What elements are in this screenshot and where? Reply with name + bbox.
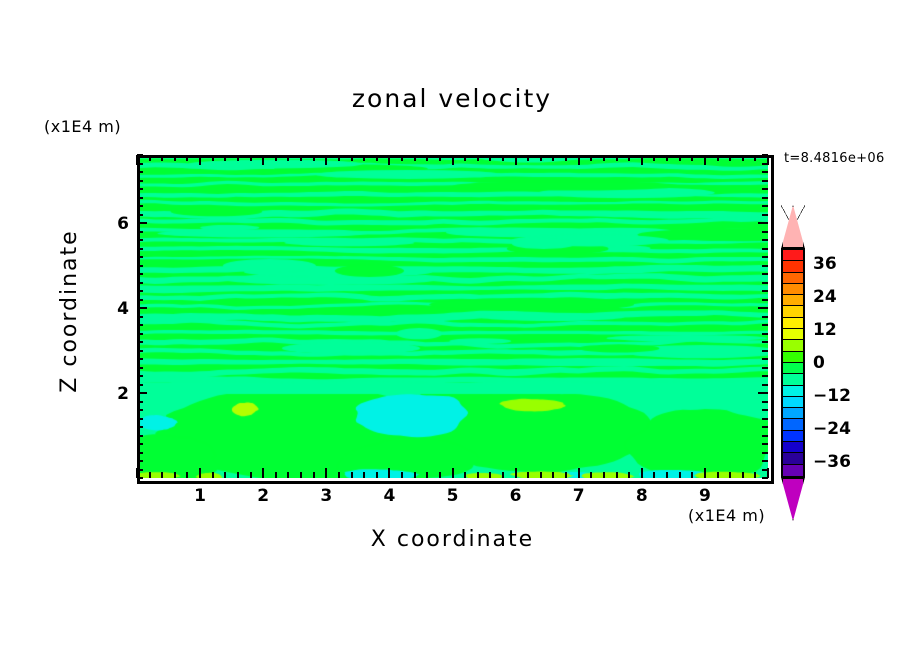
x-axis-minor-tick bbox=[464, 472, 466, 478]
x-axis-minor-tick bbox=[666, 472, 668, 478]
y-axis-minor-tick bbox=[137, 290, 143, 292]
x-axis-minor-tick bbox=[489, 472, 491, 478]
x-axis-major-tick bbox=[578, 155, 580, 165]
x-axis-minor-tick bbox=[653, 155, 655, 161]
x-axis-minor-tick bbox=[691, 155, 693, 161]
x-axis-tick-label: 5 bbox=[438, 486, 468, 506]
x-axis-major-tick bbox=[325, 155, 327, 165]
x-axis-minor-tick bbox=[653, 472, 655, 478]
y-axis-minor-tick bbox=[137, 418, 143, 420]
y-axis-major-tick bbox=[137, 307, 147, 309]
y-axis-minor-tick bbox=[137, 163, 143, 165]
x-axis-major-tick bbox=[199, 468, 201, 478]
y-axis-minor-tick bbox=[137, 180, 143, 182]
y-axis-tick-label: 2 bbox=[99, 384, 129, 404]
x-axis-minor-tick bbox=[224, 155, 226, 161]
x-axis-minor-tick bbox=[565, 472, 567, 478]
y-axis-minor-tick bbox=[762, 205, 768, 207]
x-axis-minor-tick bbox=[527, 155, 529, 161]
x-axis-minor-tick bbox=[313, 472, 315, 478]
y-axis-minor-tick bbox=[762, 375, 768, 377]
x-axis-minor-tick bbox=[363, 155, 365, 161]
colorbar-cap-bottom-outline bbox=[781, 477, 805, 521]
y-axis-minor-tick bbox=[762, 239, 768, 241]
y-axis-minor-tick bbox=[137, 299, 143, 301]
x-axis-minor-tick bbox=[552, 155, 554, 161]
x-axis-major-tick bbox=[704, 155, 706, 165]
x-axis-minor-tick bbox=[628, 155, 630, 161]
x-axis-major-tick bbox=[388, 468, 390, 478]
x-axis-major-tick bbox=[515, 155, 517, 165]
x-axis-minor-tick bbox=[426, 155, 428, 161]
x-axis-tick-label: 3 bbox=[311, 486, 341, 506]
x-axis-minor-tick bbox=[729, 472, 731, 478]
x-axis-minor-tick bbox=[616, 472, 618, 478]
x-axis-minor-tick bbox=[351, 155, 353, 161]
time-annotation: t=8.4816e+06 bbox=[784, 152, 885, 165]
x-axis-minor-tick bbox=[628, 472, 630, 478]
x-axis-minor-tick bbox=[287, 155, 289, 161]
colorbar-tick-label: 0 bbox=[813, 353, 825, 373]
y-axis-minor-tick bbox=[762, 290, 768, 292]
x-axis-minor-tick bbox=[603, 155, 605, 161]
x-axis-minor-tick bbox=[679, 155, 681, 161]
y-axis-minor-tick bbox=[762, 154, 768, 156]
y-axis-minor-tick bbox=[762, 367, 768, 369]
x-axis-tick-label: 6 bbox=[501, 486, 531, 506]
x-axis-minor-tick bbox=[275, 472, 277, 478]
y-axis-minor-tick bbox=[762, 341, 768, 343]
colorbar-tick-label: −12 bbox=[813, 386, 851, 406]
x-axis-major-tick bbox=[262, 155, 264, 165]
y-axis-minor-tick bbox=[762, 324, 768, 326]
y-axis-minor-tick bbox=[762, 214, 768, 216]
y-axis-minor-tick bbox=[762, 418, 768, 420]
y-axis-minor-tick bbox=[137, 367, 143, 369]
x-axis-minor-tick bbox=[729, 155, 731, 161]
y-axis-minor-tick bbox=[762, 248, 768, 250]
plot-frame bbox=[137, 155, 774, 484]
colorbar-tick-label: 24 bbox=[813, 287, 837, 307]
x-axis-minor-tick bbox=[590, 155, 592, 161]
y-axis-unit-label: (x1E4 m) bbox=[44, 119, 121, 135]
colorbar-cap-bottom-icon bbox=[781, 477, 805, 521]
x-axis-minor-tick bbox=[174, 472, 176, 478]
y-axis-major-tick bbox=[758, 307, 768, 309]
y-axis-minor-tick bbox=[137, 188, 143, 190]
colorbar-bands bbox=[781, 248, 805, 478]
colorbar-band bbox=[783, 318, 803, 329]
y-axis-minor-tick bbox=[137, 197, 143, 199]
colorbar-band bbox=[783, 408, 803, 419]
x-axis-minor-tick bbox=[376, 155, 378, 161]
x-axis-title: X coordinate bbox=[137, 529, 768, 551]
x-axis-minor-tick bbox=[717, 472, 719, 478]
y-axis-major-tick bbox=[758, 222, 768, 224]
y-axis-minor-tick bbox=[137, 273, 143, 275]
colorbar-band bbox=[783, 352, 803, 363]
y-axis-minor-tick bbox=[137, 452, 143, 454]
y-axis-minor-tick bbox=[137, 426, 143, 428]
x-axis-minor-tick bbox=[237, 472, 239, 478]
x-axis-minor-tick bbox=[212, 155, 214, 161]
x-axis-minor-tick bbox=[414, 472, 416, 478]
x-axis-minor-tick bbox=[338, 155, 340, 161]
y-axis-minor-tick bbox=[762, 163, 768, 165]
y-axis-minor-tick bbox=[762, 299, 768, 301]
x-axis-minor-tick bbox=[540, 472, 542, 478]
x-axis-minor-tick bbox=[338, 472, 340, 478]
colorbar-cap-top-icon bbox=[781, 205, 805, 249]
y-axis-minor-tick bbox=[137, 231, 143, 233]
page-title: zonal velocity bbox=[0, 86, 904, 111]
colorbar-tick-label: 12 bbox=[813, 320, 837, 340]
y-axis-minor-tick bbox=[137, 248, 143, 250]
x-axis-tick-label: 2 bbox=[248, 486, 278, 506]
x-axis-minor-tick bbox=[603, 472, 605, 478]
colorbar-band bbox=[783, 465, 803, 476]
colorbar-band bbox=[783, 453, 803, 464]
y-axis-minor-tick bbox=[762, 273, 768, 275]
x-axis-minor-tick bbox=[477, 155, 479, 161]
y-axis-minor-tick bbox=[762, 426, 768, 428]
x-axis-minor-tick bbox=[250, 472, 252, 478]
colorbar-cap-top-outline bbox=[781, 205, 805, 249]
x-axis-minor-tick bbox=[679, 472, 681, 478]
colorbar-band bbox=[783, 374, 803, 385]
colorbar: 3624120−12−24−36 bbox=[781, 205, 809, 525]
x-axis-minor-tick bbox=[426, 472, 428, 478]
x-axis-minor-tick bbox=[275, 155, 277, 161]
y-axis-minor-tick bbox=[762, 188, 768, 190]
x-axis-minor-tick bbox=[477, 472, 479, 478]
y-axis-minor-tick bbox=[762, 469, 768, 471]
x-axis-major-tick bbox=[452, 468, 454, 478]
y-axis-minor-tick bbox=[137, 384, 143, 386]
y-axis-minor-tick bbox=[137, 341, 143, 343]
colorbar-band bbox=[783, 250, 803, 261]
y-axis-minor-tick bbox=[762, 231, 768, 233]
x-axis-minor-tick bbox=[439, 155, 441, 161]
x-axis-minor-tick bbox=[401, 155, 403, 161]
x-axis-minor-tick bbox=[527, 472, 529, 478]
x-axis-minor-tick bbox=[313, 155, 315, 161]
colorbar-band bbox=[783, 306, 803, 317]
y-axis-title: Z coordinate bbox=[59, 211, 81, 411]
x-axis-minor-tick bbox=[742, 155, 744, 161]
x-axis-minor-tick bbox=[754, 155, 756, 161]
x-axis-unit-label: (x1E4 m) bbox=[688, 508, 765, 524]
y-axis-minor-tick bbox=[137, 350, 143, 352]
x-axis-minor-tick bbox=[590, 472, 592, 478]
y-axis-tick-label: 4 bbox=[99, 299, 129, 319]
y-axis-minor-tick bbox=[762, 350, 768, 352]
colorbar-band bbox=[783, 397, 803, 408]
x-axis-tick-label: 7 bbox=[564, 486, 594, 506]
x-axis-minor-tick bbox=[149, 155, 151, 161]
y-axis-minor-tick bbox=[762, 358, 768, 360]
colorbar-band bbox=[783, 273, 803, 284]
x-axis-tick-label: 8 bbox=[627, 486, 657, 506]
x-axis-minor-tick bbox=[300, 472, 302, 478]
x-axis-minor-tick bbox=[754, 472, 756, 478]
x-axis-minor-tick bbox=[149, 472, 151, 478]
x-axis-minor-tick bbox=[439, 472, 441, 478]
y-axis-minor-tick bbox=[762, 197, 768, 199]
colorbar-band bbox=[783, 386, 803, 397]
colorbar-band bbox=[783, 363, 803, 374]
x-axis-major-tick bbox=[578, 468, 580, 478]
y-axis-minor-tick bbox=[137, 469, 143, 471]
x-axis-minor-tick bbox=[186, 155, 188, 161]
x-axis-major-tick bbox=[641, 155, 643, 165]
x-axis-minor-tick bbox=[565, 155, 567, 161]
x-axis-minor-tick bbox=[224, 472, 226, 478]
figure-canvas: zonal velocity (x1E4 m) (x1E4 m) t=8.481… bbox=[0, 0, 904, 654]
y-axis-minor-tick bbox=[762, 316, 768, 318]
colorbar-band bbox=[783, 340, 803, 351]
x-axis-minor-tick bbox=[161, 472, 163, 478]
x-axis-minor-tick bbox=[414, 155, 416, 161]
y-axis-minor-tick bbox=[137, 435, 143, 437]
y-axis-minor-tick bbox=[137, 443, 143, 445]
y-axis-minor-tick bbox=[137, 375, 143, 377]
x-axis-minor-tick bbox=[540, 155, 542, 161]
x-axis-major-tick bbox=[641, 468, 643, 478]
x-axis-minor-tick bbox=[186, 472, 188, 478]
x-axis-minor-tick bbox=[351, 472, 353, 478]
x-axis-minor-tick bbox=[250, 155, 252, 161]
y-axis-minor-tick bbox=[137, 214, 143, 216]
y-axis-minor-tick bbox=[762, 477, 768, 479]
x-axis-minor-tick bbox=[691, 472, 693, 478]
x-axis-minor-tick bbox=[616, 155, 618, 161]
y-axis-minor-tick bbox=[137, 316, 143, 318]
y-axis-minor-tick bbox=[762, 435, 768, 437]
y-axis-minor-tick bbox=[137, 205, 143, 207]
x-axis-major-tick bbox=[515, 468, 517, 478]
colorbar-band bbox=[783, 431, 803, 442]
colorbar-tick-label: 36 bbox=[813, 254, 837, 274]
x-axis-minor-tick bbox=[502, 472, 504, 478]
x-axis-minor-tick bbox=[464, 155, 466, 161]
x-axis-major-tick bbox=[388, 155, 390, 165]
x-axis-minor-tick bbox=[552, 472, 554, 478]
x-axis-minor-tick bbox=[161, 155, 163, 161]
colorbar-band bbox=[783, 442, 803, 453]
y-axis-minor-tick bbox=[762, 180, 768, 182]
x-axis-minor-tick bbox=[489, 155, 491, 161]
y-axis-major-tick bbox=[137, 222, 147, 224]
x-axis-tick-label: 1 bbox=[185, 486, 215, 506]
y-axis-minor-tick bbox=[137, 171, 143, 173]
x-axis-minor-tick bbox=[212, 472, 214, 478]
colorbar-band bbox=[783, 329, 803, 340]
y-axis-minor-tick bbox=[137, 333, 143, 335]
y-axis-minor-tick bbox=[762, 409, 768, 411]
y-axis-minor-tick bbox=[762, 452, 768, 454]
y-axis-minor-tick bbox=[762, 256, 768, 258]
x-axis-minor-tick bbox=[717, 155, 719, 161]
y-axis-minor-tick bbox=[762, 265, 768, 267]
colorbar-tick-label: −36 bbox=[813, 452, 851, 472]
y-axis-minor-tick bbox=[762, 282, 768, 284]
x-axis-major-tick bbox=[325, 468, 327, 478]
x-axis-minor-tick bbox=[237, 155, 239, 161]
colorbar-band bbox=[783, 419, 803, 430]
colorbar-band bbox=[783, 284, 803, 295]
x-axis-tick-label: 9 bbox=[690, 486, 720, 506]
y-axis-minor-tick bbox=[137, 282, 143, 284]
x-axis-major-tick bbox=[452, 155, 454, 165]
y-axis-minor-tick bbox=[137, 239, 143, 241]
x-axis-minor-tick bbox=[174, 155, 176, 161]
y-axis-minor-tick bbox=[762, 443, 768, 445]
y-axis-major-tick bbox=[137, 392, 147, 394]
x-axis-minor-tick bbox=[666, 155, 668, 161]
y-axis-minor-tick bbox=[762, 401, 768, 403]
x-axis-minor-tick bbox=[401, 472, 403, 478]
y-axis-minor-tick bbox=[137, 460, 143, 462]
y-axis-minor-tick bbox=[137, 154, 143, 156]
y-axis-major-tick bbox=[758, 392, 768, 394]
x-axis-minor-tick bbox=[376, 472, 378, 478]
y-axis-minor-tick bbox=[137, 409, 143, 411]
x-axis-minor-tick bbox=[742, 472, 744, 478]
y-axis-minor-tick bbox=[137, 256, 143, 258]
y-axis-minor-tick bbox=[762, 333, 768, 335]
y-axis-minor-tick bbox=[137, 401, 143, 403]
y-axis-minor-tick bbox=[762, 171, 768, 173]
y-axis-tick-label: 6 bbox=[99, 214, 129, 234]
y-axis-minor-tick bbox=[137, 477, 143, 479]
y-axis-minor-tick bbox=[137, 265, 143, 267]
x-axis-minor-tick bbox=[287, 472, 289, 478]
x-axis-tick-label: 4 bbox=[374, 486, 404, 506]
y-axis-minor-tick bbox=[762, 384, 768, 386]
y-axis-minor-tick bbox=[137, 358, 143, 360]
colorbar-band bbox=[783, 261, 803, 272]
x-axis-minor-tick bbox=[363, 472, 365, 478]
y-axis-minor-tick bbox=[762, 460, 768, 462]
x-axis-minor-tick bbox=[502, 155, 504, 161]
x-axis-minor-tick bbox=[300, 155, 302, 161]
y-axis-minor-tick bbox=[137, 324, 143, 326]
x-axis-major-tick bbox=[262, 468, 264, 478]
colorbar-band bbox=[783, 295, 803, 306]
x-axis-major-tick bbox=[704, 468, 706, 478]
x-axis-major-tick bbox=[199, 155, 201, 165]
colorbar-tick-label: −24 bbox=[813, 419, 851, 439]
